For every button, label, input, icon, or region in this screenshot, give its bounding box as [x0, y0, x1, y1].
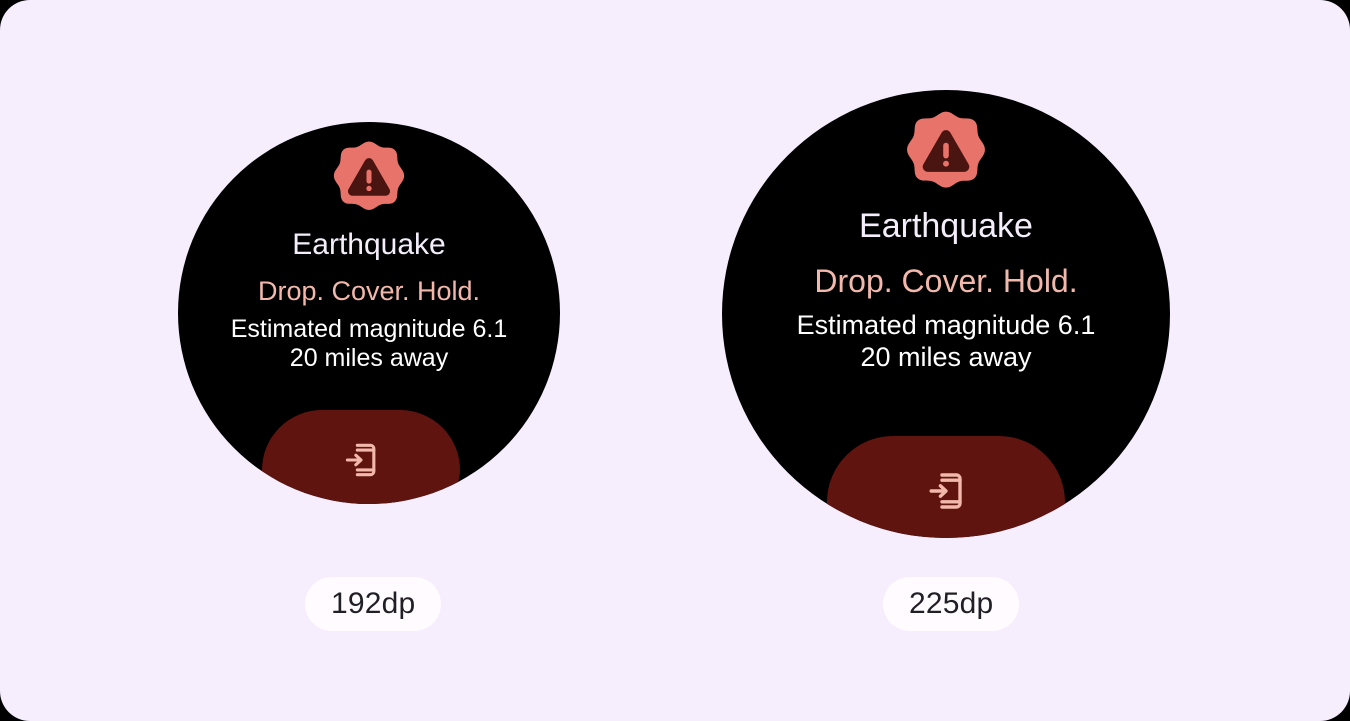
- size-chip-label: 192dp: [331, 587, 415, 621]
- warning-exclamation-stem: [943, 143, 949, 159]
- warning-badge: [332, 140, 406, 214]
- alert-action: Drop. Cover. Hold.: [258, 276, 480, 307]
- alert-detail-line-1: Estimated magnitude 6.1: [797, 310, 1096, 341]
- warning-exclamation-stem: [366, 170, 371, 184]
- alert-detail-line-1: Estimated magnitude 6.1: [231, 315, 508, 344]
- alert-detail-line-2: 20 miles away: [290, 344, 448, 373]
- alert-title: Earthquake: [292, 228, 445, 261]
- alert-action: Drop. Cover. Hold.: [814, 263, 1077, 300]
- watch-preview-192dp: Earthquake Drop. Cover. Hold. Estimated …: [178, 122, 560, 504]
- warning-exclamation-dot: [943, 161, 949, 167]
- size-chip-label: 225dp: [909, 587, 993, 621]
- alert-title: Earthquake: [859, 208, 1033, 245]
- warning-exclamation-dot: [366, 186, 371, 191]
- open-on-phone-button[interactable]: [262, 410, 460, 504]
- warning-badge: [905, 110, 987, 192]
- alert-detail-line-2: 20 miles away: [860, 342, 1031, 373]
- open-on-phone-button[interactable]: [827, 436, 1065, 538]
- phone-enter-icon: [922, 467, 970, 515]
- watch-preview-225dp: Earthquake Drop. Cover. Hold. Estimated …: [722, 90, 1170, 538]
- size-chip-225dp: 225dp: [883, 577, 1019, 631]
- design-canvas: Earthquake Drop. Cover. Hold. Estimated …: [0, 0, 1350, 721]
- size-chip-192dp: 192dp: [305, 577, 441, 631]
- phone-enter-icon: [339, 438, 383, 482]
